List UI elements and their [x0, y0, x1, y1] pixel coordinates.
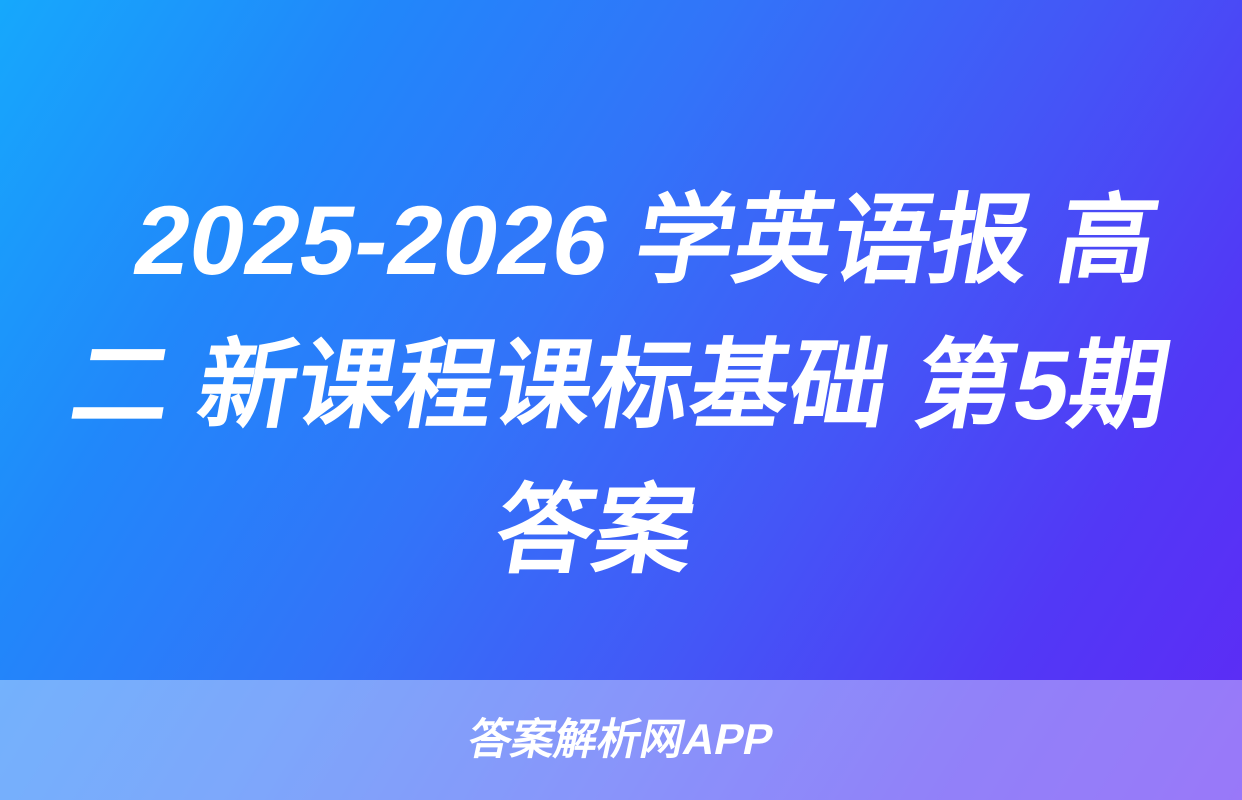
app-brand-label: 答案解析网APP [465, 719, 778, 762]
page-title-text: 2025-2026 学英语报 高二 新课程课标基础 第5期答案 [64, 185, 1179, 585]
answer-poster: 2025-2026 学英语报 高二 新课程课标基础 第5期答案 答案解析网APP [0, 0, 1242, 800]
page-title: 2025-2026 学英语报 高二 新课程课标基础 第5期答案 [0, 168, 1242, 603]
footer-brand-band: 答案解析网APP [0, 680, 1242, 800]
